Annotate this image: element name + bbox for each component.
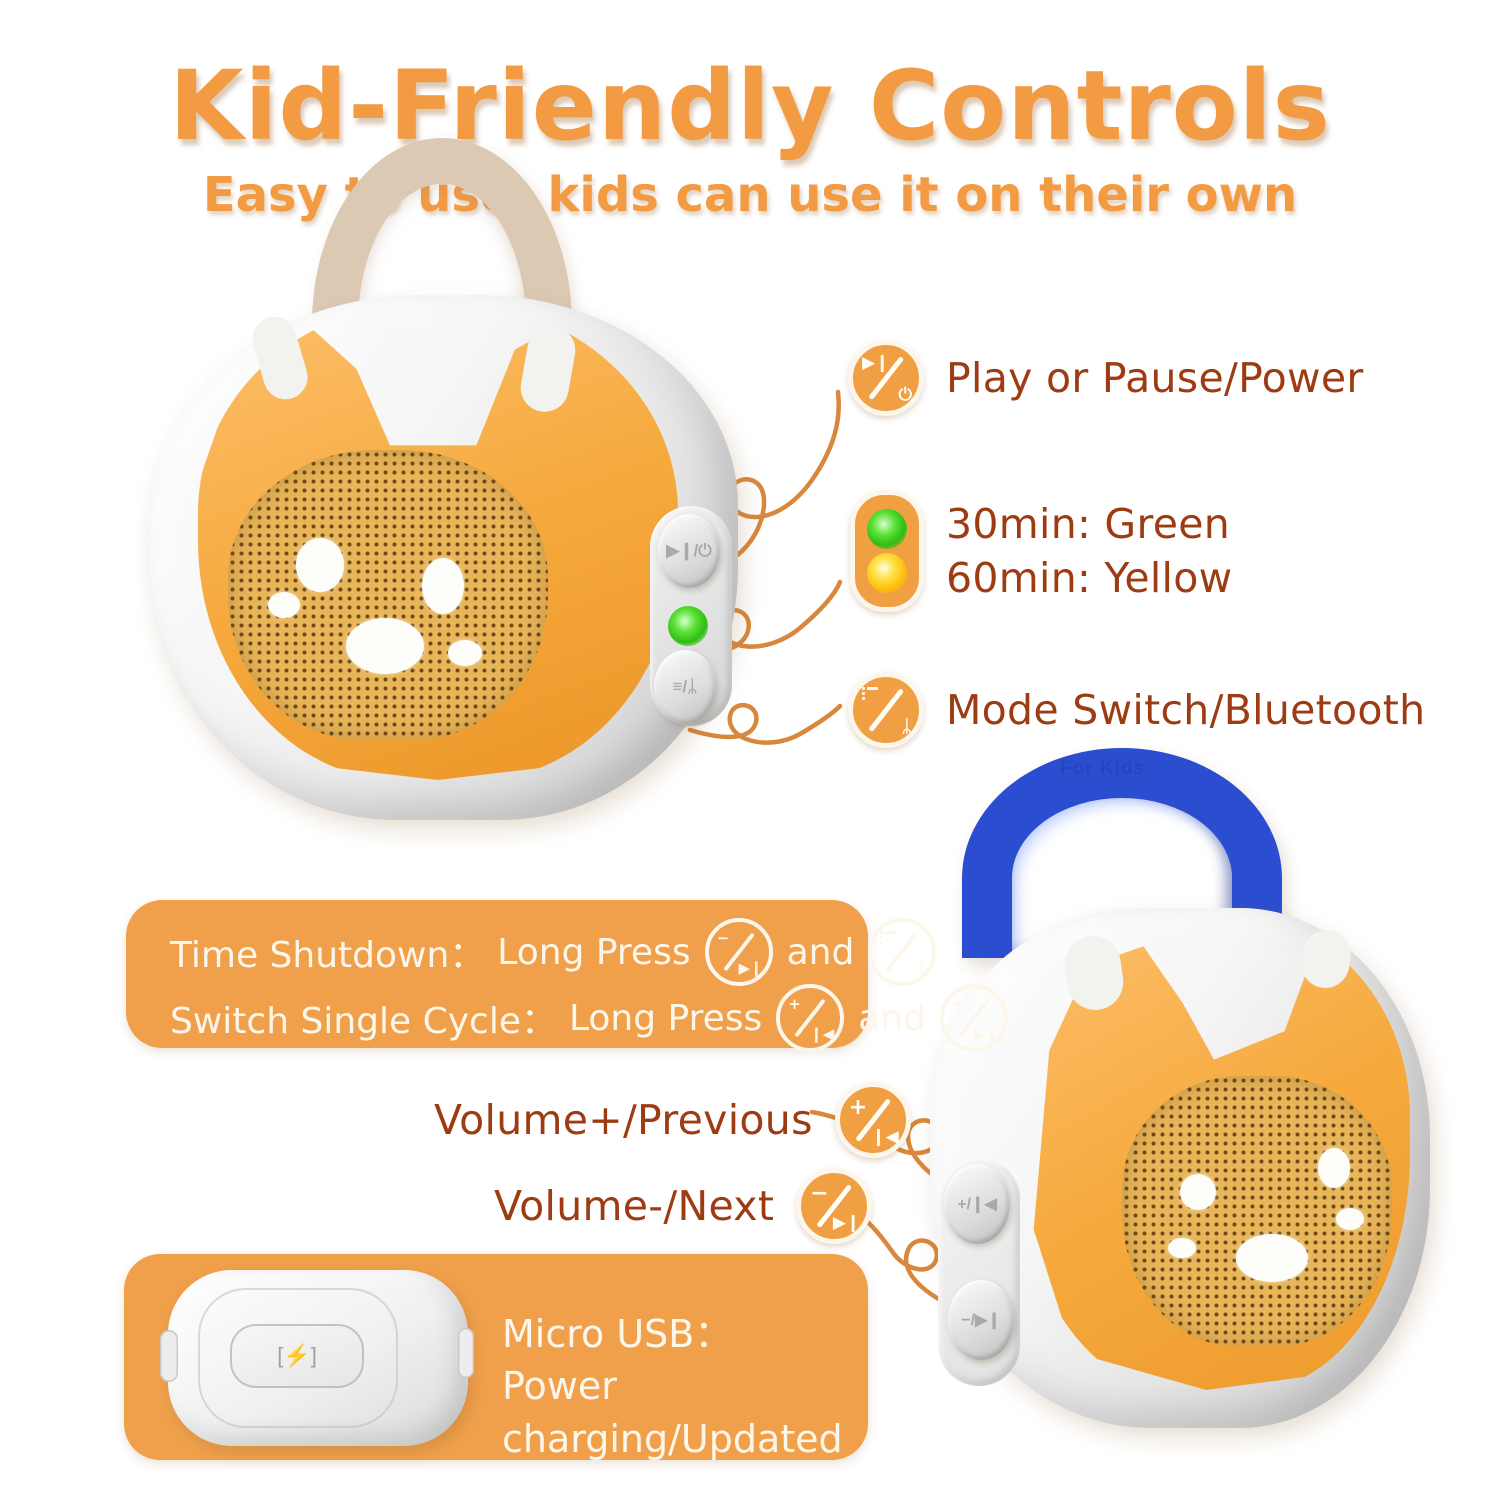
callout-label-play-pause-power: Play or Pause/Power — [946, 354, 1364, 402]
callout-led-legend: 30min: Green 60min: Yellow — [850, 490, 1232, 612]
usb-panel: [⚡] Micro USB： Power charging/Updated — [124, 1254, 868, 1460]
charging-port-icon: [⚡] — [277, 1343, 317, 1369]
volume-down-next-button[interactable]: −/▶❙ — [948, 1280, 1014, 1360]
power-icon: ⏻ — [899, 387, 912, 404]
led-indicator — [668, 606, 708, 646]
shortcut-label-switch-single-cycle: Switch Single Cycle： — [170, 992, 557, 1044]
minus-icon: − — [810, 1183, 828, 1205]
callout-play-pause-power: ▶❙ ⏻ Play or Pause/Power — [848, 340, 1364, 416]
speaker-bottom-view: [⚡] — [168, 1270, 468, 1446]
usb-label-line2: Power charging/Updated — [502, 1360, 868, 1465]
usb-label: Micro USB： Power charging/Updated — [502, 1308, 868, 1465]
previous-track-icon: ❙◀ — [810, 1027, 834, 1042]
side-nub-left — [160, 1330, 178, 1382]
playlist-icon — [880, 931, 896, 944]
volume-down-next-icon: − ▶❙ — [940, 984, 1008, 1052]
play-pause-power-button[interactable]: ▶❙/⏻ — [658, 514, 720, 588]
shortcut-conjunction: and — [787, 932, 855, 973]
volume-up-previous-button[interactable]: +/❙◀ — [944, 1164, 1010, 1244]
led-legend-text: 30min: Green 60min: Yellow — [946, 500, 1232, 602]
speaker-angled-view: For Kids +/❙◀ −/▶❙ — [900, 740, 1480, 1460]
led-yellow-dot — [867, 553, 907, 593]
callout-volume-up-previous: Volume+/Previous + ❙◀ — [434, 1082, 911, 1158]
face-muzzle — [346, 618, 424, 674]
face-cheek-left — [268, 592, 300, 618]
previous-track-icon: ❙◀ — [871, 1129, 898, 1146]
volume-up-previous-icon: + ❙◀ — [835, 1082, 911, 1158]
shortcut-conjunction: and — [858, 998, 926, 1039]
volume-down-next-icon: − ▶❙ — [705, 918, 773, 986]
shortcut-panel: Time Shutdown： Long Press − ▶❙ and ᛦ Swi… — [126, 900, 868, 1048]
minus-icon: − — [717, 931, 730, 946]
side-nub-right — [458, 1328, 474, 1378]
face-cheek-right — [1336, 1208, 1364, 1230]
callout-label-mode-switch-bluetooth: Mode Switch/Bluetooth — [946, 686, 1425, 734]
playlist-icon — [862, 687, 878, 700]
shortcut-row: Time Shutdown： Long Press − ▶❙ and ᛦ — [170, 918, 936, 986]
play-pause-icon: ▶❙ — [862, 355, 889, 372]
volume-down-next-icon: − ▶❙ — [796, 1168, 872, 1244]
infographic-page: Kid-Friendly Controls Easy to use, kids … — [0, 0, 1500, 1500]
face-eye-left — [1180, 1174, 1216, 1210]
volume-up-previous-icon: + ❙◀ — [776, 984, 844, 1052]
face-cheek-left — [1168, 1238, 1196, 1258]
shortcut-label-time-shutdown: Time Shutdown： — [170, 926, 485, 978]
next-track-icon: ▶❙ — [974, 1027, 998, 1042]
plus-icon: + — [849, 1097, 867, 1119]
mode-switch-bluetooth-icon: ᛦ — [848, 672, 924, 748]
next-track-icon: ▶❙ — [738, 961, 762, 976]
speaker-front-view: ▶❙/⏻ ≡/ᛦ — [140, 120, 760, 850]
handle-text: For Kids — [1060, 758, 1145, 780]
face-eye-left — [296, 538, 344, 592]
mode-bluetooth-button[interactable]: ≡/ᛦ — [654, 650, 716, 724]
play-pause-power-icon: ▶❙ ⏻ — [848, 340, 924, 416]
face-cheek-right — [448, 640, 482, 666]
led-legend-30min: 30min: Green — [946, 500, 1232, 548]
shortcut-action: Long Press — [497, 932, 690, 973]
bluetooth-icon: ᛦ — [902, 719, 912, 736]
shortcut-row: Switch Single Cycle： Long Press + ❙◀ and… — [170, 984, 1008, 1052]
callout-label-volume-up-previous: Volume+/Previous — [434, 1096, 813, 1144]
face-muzzle — [1236, 1234, 1308, 1282]
face-eye-right — [422, 558, 464, 614]
led-indicator-pill-icon — [850, 490, 924, 612]
callout-mode-switch-bluetooth: ᛦ Mode Switch/Bluetooth — [848, 672, 1425, 748]
led-legend-60min: 60min: Yellow — [946, 554, 1232, 602]
bluetooth-icon: ᛦ — [917, 961, 926, 976]
charging-port[interactable]: [⚡] — [230, 1324, 364, 1388]
usb-label-line1: Micro USB： — [502, 1308, 868, 1360]
shortcut-action: Long Press — [569, 998, 762, 1039]
next-track-icon: ▶❙ — [833, 1215, 860, 1232]
mode-bluetooth-icon: ᛦ — [868, 918, 936, 986]
plus-icon: + — [788, 997, 801, 1012]
minus-icon: − — [952, 997, 965, 1012]
callout-label-volume-down-next: Volume-/Next — [494, 1182, 774, 1230]
callout-volume-down-next: Volume-/Next − ▶❙ — [494, 1168, 872, 1244]
face-eye-right — [1318, 1148, 1350, 1188]
led-green-dot — [867, 509, 907, 549]
